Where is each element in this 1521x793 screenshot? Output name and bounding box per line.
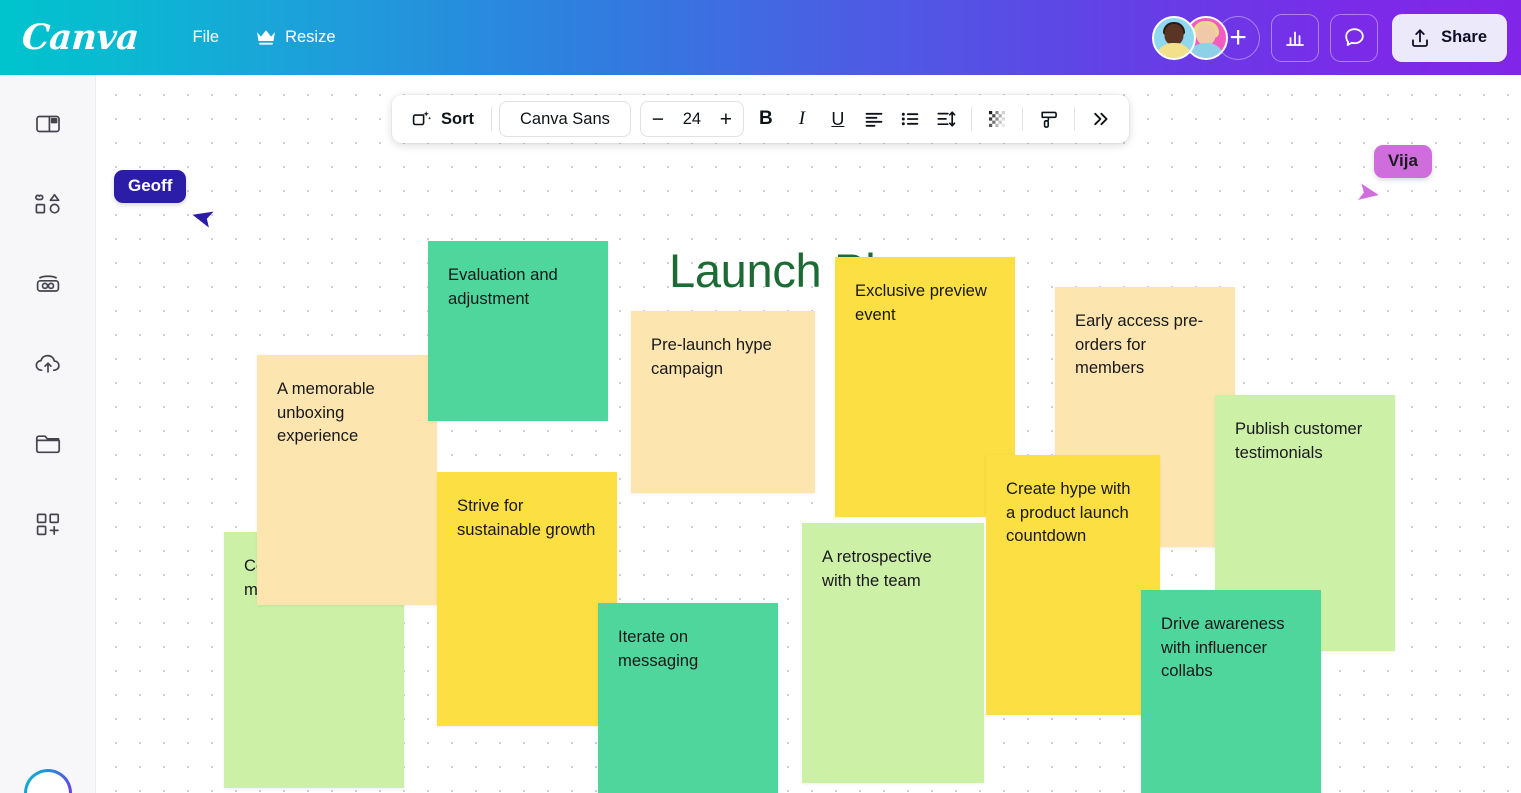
font-size-input[interactable] — [675, 110, 709, 129]
sidebar-item-apps[interactable] — [16, 495, 80, 553]
sticky-note-text: Iterate on messaging — [618, 627, 698, 670]
cursor-vija-label: Vija — [1388, 151, 1418, 170]
sort-button-label: Sort — [441, 110, 474, 129]
note-memorable[interactable]: A memorable unboxing experience — [257, 355, 437, 605]
sticky-note-text: Drive awareness with influencer collabs — [1161, 614, 1285, 680]
sticky-note-sparkle-icon — [409, 108, 432, 131]
left-sidebar — [0, 75, 96, 793]
cursor-vija: Vija — [1374, 145, 1432, 178]
sticky-note-text: Evaluation and adjustment — [448, 265, 558, 308]
bold-button[interactable]: B — [748, 101, 784, 137]
comments-button[interactable] — [1330, 14, 1378, 62]
comment-bubble-icon — [1342, 25, 1367, 50]
paint-roller-icon — [1037, 108, 1060, 131]
sticky-note-text: Strive for sustainable growth — [457, 496, 595, 539]
text-format-toolbar: Sort Canva Sans − + B I U — [392, 95, 1129, 143]
chevron-double-right-icon — [1089, 108, 1111, 130]
sidebar-item-projects[interactable] — [16, 415, 80, 473]
sticky-note-text: A memorable unboxing experience — [277, 379, 375, 445]
magic-studio-button[interactable] — [24, 769, 72, 793]
note-prelaunch[interactable]: Pre-launch hype campaign — [631, 311, 815, 493]
bar-chart-icon — [1283, 26, 1307, 50]
layout-panel-icon — [33, 109, 63, 139]
toolbar-divider — [1074, 107, 1075, 131]
more-options-button[interactable] — [1082, 101, 1118, 137]
upload-icon — [1409, 27, 1431, 49]
plus-icon: + — [1229, 23, 1247, 53]
font-family-select[interactable]: Canva Sans — [499, 101, 631, 137]
bullet-list-icon — [899, 108, 921, 130]
canva-logo[interactable]: Canva — [22, 20, 139, 55]
toolbar-divider — [491, 107, 492, 131]
sticky-note-text: Publish customer testimonials — [1235, 419, 1362, 462]
note-strive[interactable]: Strive for sustainable growth — [437, 472, 617, 726]
share-button-label: Share — [1441, 28, 1487, 47]
menu-resize[interactable]: Resize — [243, 21, 347, 54]
canva-logo-text: Canva — [21, 20, 140, 55]
effects-button[interactable] — [1030, 101, 1067, 137]
cursor-vija-pointer — [1351, 180, 1377, 206]
font-size-decrease-button[interactable]: − — [641, 102, 675, 136]
brand-kit-icon — [33, 269, 63, 299]
whiteboard-canvas[interactable]: Launch PlanEvaluation and adjustmentExcl… — [96, 75, 1521, 793]
cursor-geoff-label: Geoff — [128, 176, 172, 195]
cursor-geoff: Geoff — [114, 170, 186, 203]
sticky-note-text: Pre-launch hype campaign — [651, 335, 772, 378]
analytics-button[interactable] — [1271, 14, 1319, 62]
header-actions: + — [1152, 14, 1507, 62]
transparency-button[interactable] — [979, 101, 1015, 137]
font-family-value: Canva Sans — [520, 110, 610, 129]
bullet-list-button[interactable] — [892, 101, 928, 137]
crown-icon — [255, 29, 277, 46]
note-drive[interactable]: Drive awareness with influencer collabs — [1141, 590, 1321, 793]
align-button[interactable] — [856, 101, 892, 137]
sidebar-item-uploads[interactable] — [16, 335, 80, 393]
menu-file[interactable]: File — [181, 21, 232, 54]
cloud-upload-icon — [33, 349, 63, 379]
note-create-hype[interactable]: Create hype with a product launch countd… — [986, 455, 1160, 715]
share-button[interactable]: Share — [1392, 14, 1507, 62]
transparency-checker-icon — [986, 108, 1008, 130]
toolbar-divider — [1022, 107, 1023, 131]
note-retrospective[interactable]: A retrospective with the team — [802, 523, 984, 783]
italic-button[interactable]: I — [784, 101, 820, 137]
folder-icon — [33, 429, 63, 459]
align-left-icon — [863, 108, 885, 130]
sidebar-item-elements[interactable] — [16, 175, 80, 233]
avatar-geoff[interactable] — [1152, 16, 1196, 60]
sort-button[interactable]: Sort — [403, 101, 484, 137]
underline-button[interactable]: U — [820, 101, 856, 137]
menu-file-label: File — [193, 28, 220, 47]
canva-whiteboard-app: Canva File Resize — [0, 0, 1521, 793]
sticky-note-text: Create hype with a product launch countd… — [1006, 479, 1131, 545]
sticky-note-text: A retrospective with the team — [822, 547, 932, 590]
note-evaluation[interactable]: Evaluation and adjustment — [428, 241, 608, 421]
apps-grid-plus-icon — [33, 509, 63, 539]
top-header-bar: Canva File Resize — [0, 0, 1521, 75]
note-iterate[interactable]: Iterate on messaging — [598, 603, 778, 793]
avatar-body — [1156, 43, 1192, 60]
font-size-stepper: − + — [640, 101, 744, 137]
sidebar-item-brand[interactable] — [16, 255, 80, 313]
cursor-geoff-pointer — [194, 205, 220, 231]
shapes-icon — [33, 189, 63, 219]
sticky-note-text: Exclusive preview event — [855, 281, 987, 324]
sidebar-item-design[interactable] — [16, 95, 80, 153]
toolbar-divider — [971, 107, 972, 131]
menu-resize-label: Resize — [285, 28, 335, 47]
line-spacing-icon — [935, 108, 957, 130]
font-size-increase-button[interactable]: + — [709, 102, 743, 136]
sticky-note-text: Early access pre-orders for members — [1075, 311, 1203, 377]
line-spacing-button[interactable] — [928, 101, 964, 137]
